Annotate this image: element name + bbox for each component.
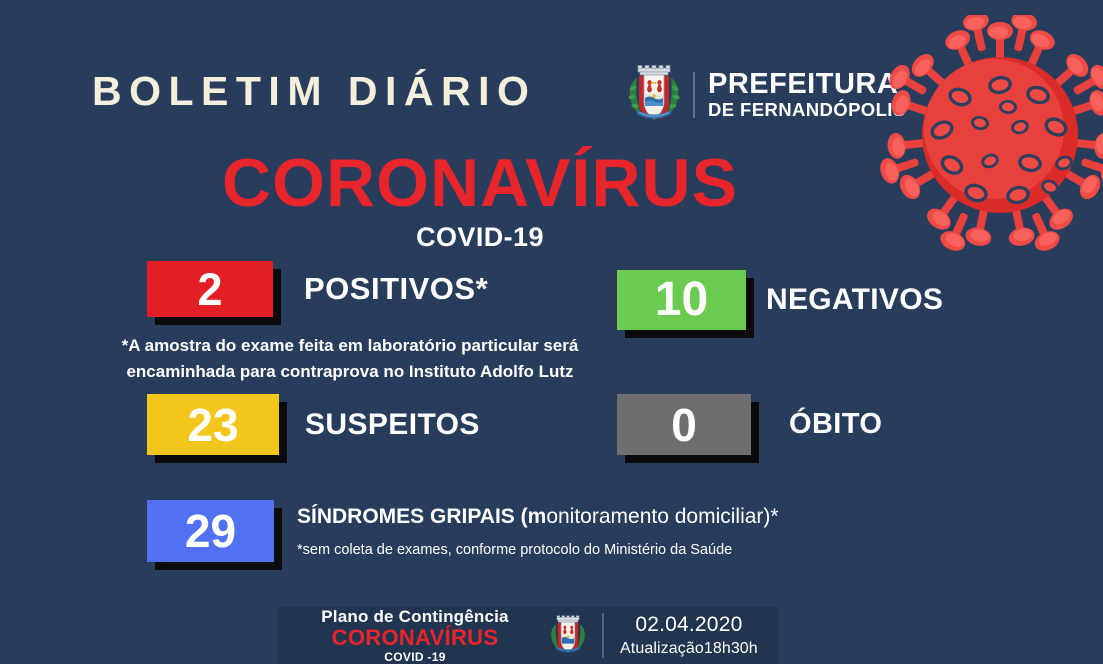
footer-plan-covid: COVID -19 bbox=[284, 651, 546, 663]
stat-sindromes-box: 29 bbox=[147, 500, 274, 562]
footer-plan-block: Plano de Contingência CORONAVÍRUS COVID … bbox=[278, 608, 546, 663]
stat-sindromes-label: SÍNDROMES GRIPAIS (monitoramento domicil… bbox=[297, 505, 779, 529]
stat-positivos-value: 2 bbox=[197, 267, 222, 312]
footer-divider bbox=[602, 613, 604, 658]
prefeitura-logo: PREFEITURA DE FERNANDÓPOLIS bbox=[625, 64, 906, 126]
prefeitura-name: PREFEITURA bbox=[708, 70, 906, 99]
logo-divider bbox=[693, 72, 695, 118]
prefeitura-text: PREFEITURA DE FERNANDÓPOLIS bbox=[708, 70, 906, 120]
footer-date-block: 02.04.2020 Atualização18h30h bbox=[620, 612, 758, 658]
positivos-footnote: *A amostra do exame feita em laboratório… bbox=[0, 333, 700, 386]
stat-positivos-label: POSITIVOS* bbox=[304, 271, 488, 307]
sindromes-footnote: *sem coleta de exames, conforme protocol… bbox=[297, 542, 779, 558]
stat-suspeitos-box: 23 bbox=[147, 394, 279, 455]
positivos-footnote-line1: *A amostra do exame feita em laboratório… bbox=[0, 333, 700, 359]
stat-negativos-value: 10 bbox=[655, 276, 708, 324]
sub-heading: COVID-19 bbox=[0, 222, 960, 253]
footer-date: 02.04.2020 bbox=[620, 612, 758, 638]
stat-suspeitos-label: SUSPEITOS bbox=[305, 408, 480, 442]
stat-negativos-label: NEGATIVOS bbox=[766, 283, 943, 317]
stat-sindromes: 29 SÍNDROMES GRIPAIS (monitoramento domi… bbox=[147, 500, 779, 562]
page-title: BOLETIM DIÁRIO bbox=[92, 68, 536, 115]
footer-update-time: Atualização18h30h bbox=[620, 639, 758, 659]
stat-negativos-box: 10 bbox=[617, 270, 746, 330]
stat-positivos: 2 POSITIVOS* bbox=[147, 261, 488, 317]
stat-sindromes-label-bold: SÍNDROMES GRIPAIS (m bbox=[297, 505, 546, 528]
main-heading: CORONAVÍRUS bbox=[0, 144, 960, 222]
stat-suspeitos-value: 23 bbox=[187, 402, 238, 448]
poster-canvas: BOLETIM DIÁRIO bbox=[0, 0, 1103, 664]
footer-coat-of-arms-icon bbox=[548, 614, 588, 658]
stat-obito-label: ÓBITO bbox=[789, 408, 882, 441]
footer-plan-coronavirus: CORONAVÍRUS bbox=[284, 627, 546, 649]
stat-sindromes-value: 29 bbox=[185, 508, 236, 554]
footer-bar: Plano de Contingência CORONAVÍRUS COVID … bbox=[278, 607, 778, 664]
stat-suspeitos: 23 SUSPEITOS bbox=[147, 394, 480, 455]
stat-sindromes-text: SÍNDROMES GRIPAIS (monitoramento domicil… bbox=[297, 505, 779, 558]
stat-obito: 0 ÓBITO bbox=[617, 394, 882, 455]
prefeitura-city: DE FERNANDÓPOLIS bbox=[708, 101, 906, 120]
stat-obito-value: 0 bbox=[671, 402, 697, 448]
positivos-footnote-line2: encaminhada para contraprova no Institut… bbox=[0, 359, 700, 385]
stat-negativos: 10 NEGATIVOS bbox=[617, 270, 943, 330]
stat-positivos-box: 2 bbox=[147, 261, 273, 317]
stat-obito-box: 0 bbox=[617, 394, 751, 455]
footer-plan-title: Plano de Contingência bbox=[284, 608, 546, 625]
coat-of-arms-icon bbox=[625, 64, 683, 126]
stat-sindromes-label-light: onitoramento domiciliar)* bbox=[546, 505, 778, 528]
